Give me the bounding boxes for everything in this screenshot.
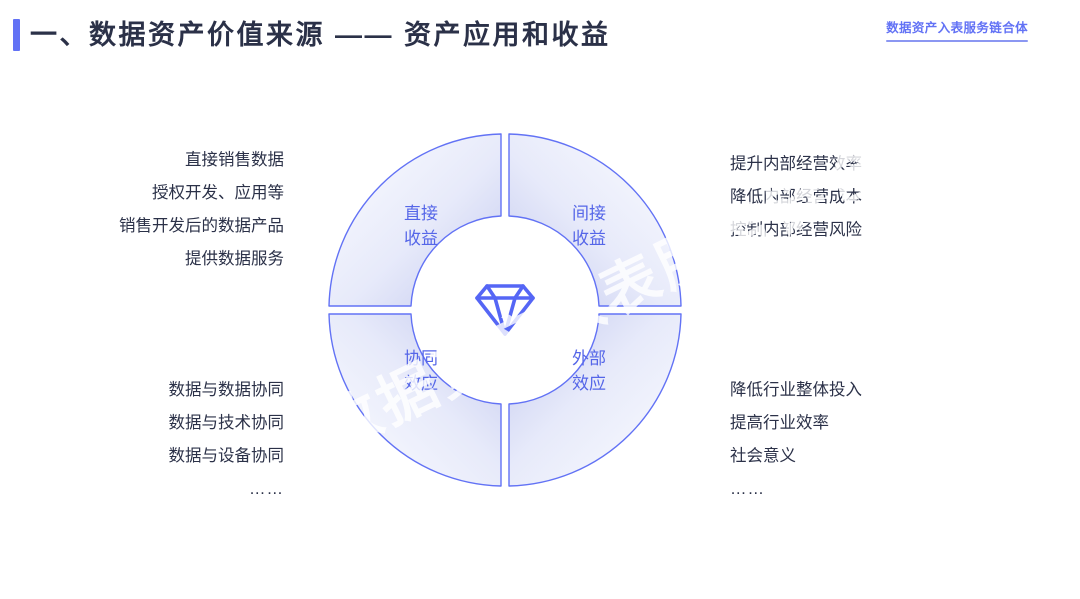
list-item: 数据与设备协同	[169, 440, 285, 473]
donut-quadrant-bottom-left[interactable]	[329, 314, 501, 486]
donut-quadrant-bottom-right[interactable]	[509, 314, 681, 486]
slide-body: 数据资产入表服务链合体	[0, 72, 1080, 599]
brand-logo-text: 数据资产入表服务链合体	[886, 20, 1028, 36]
donut-diagram: 直接 收益 间接 收益 协同 效应 外部 效应	[325, 130, 685, 490]
list-item: 降低行业整体投入	[730, 374, 862, 407]
donut-svg	[325, 130, 685, 490]
list-item: 控制内部经营风险	[730, 214, 862, 247]
page-header: 一、数据资产价值来源 —— 资产应用和收益 数据资产入表服务链合体	[0, 0, 1080, 72]
list-item: 降低内部经营成本	[730, 181, 862, 214]
list-item: 社会意义	[730, 440, 862, 473]
text-block-external-effect: 降低行业整体投入 提高行业效率 社会意义 ……	[730, 374, 862, 506]
text-block-synergy-effect: 数据与数据协同 数据与技术协同 数据与设备协同 ……	[169, 374, 285, 506]
donut-quadrant-top-right[interactable]	[509, 134, 681, 306]
list-item: 数据与数据协同	[169, 374, 285, 407]
list-item: 销售开发后的数据产品	[119, 210, 284, 243]
page-title: 一、数据资产价值来源 —— 资产应用和收益	[30, 16, 611, 54]
brand-logo-underline	[886, 40, 1028, 42]
text-block-indirect-revenue: 提升内部经营效率 降低内部经营成本 控制内部经营风险	[730, 148, 862, 247]
list-item: 直接销售数据	[119, 144, 284, 177]
diamond-gem-icon	[477, 286, 533, 334]
donut-quadrant-top-left[interactable]	[329, 134, 501, 306]
list-item: 提升内部经营效率	[730, 148, 862, 181]
brand-logo: 数据资产入表服务链合体	[886, 20, 1028, 42]
list-item-ellipsis: ……	[730, 473, 862, 506]
title-accent-bar	[13, 19, 20, 51]
list-item: 授权开发、应用等	[119, 177, 284, 210]
list-item: 提供数据服务	[119, 243, 284, 276]
text-block-direct-revenue: 直接销售数据 授权开发、应用等 销售开发后的数据产品 提供数据服务	[119, 144, 284, 276]
list-item: 数据与技术协同	[169, 407, 285, 440]
list-item-ellipsis: ……	[169, 473, 285, 506]
list-item: 提高行业效率	[730, 407, 862, 440]
